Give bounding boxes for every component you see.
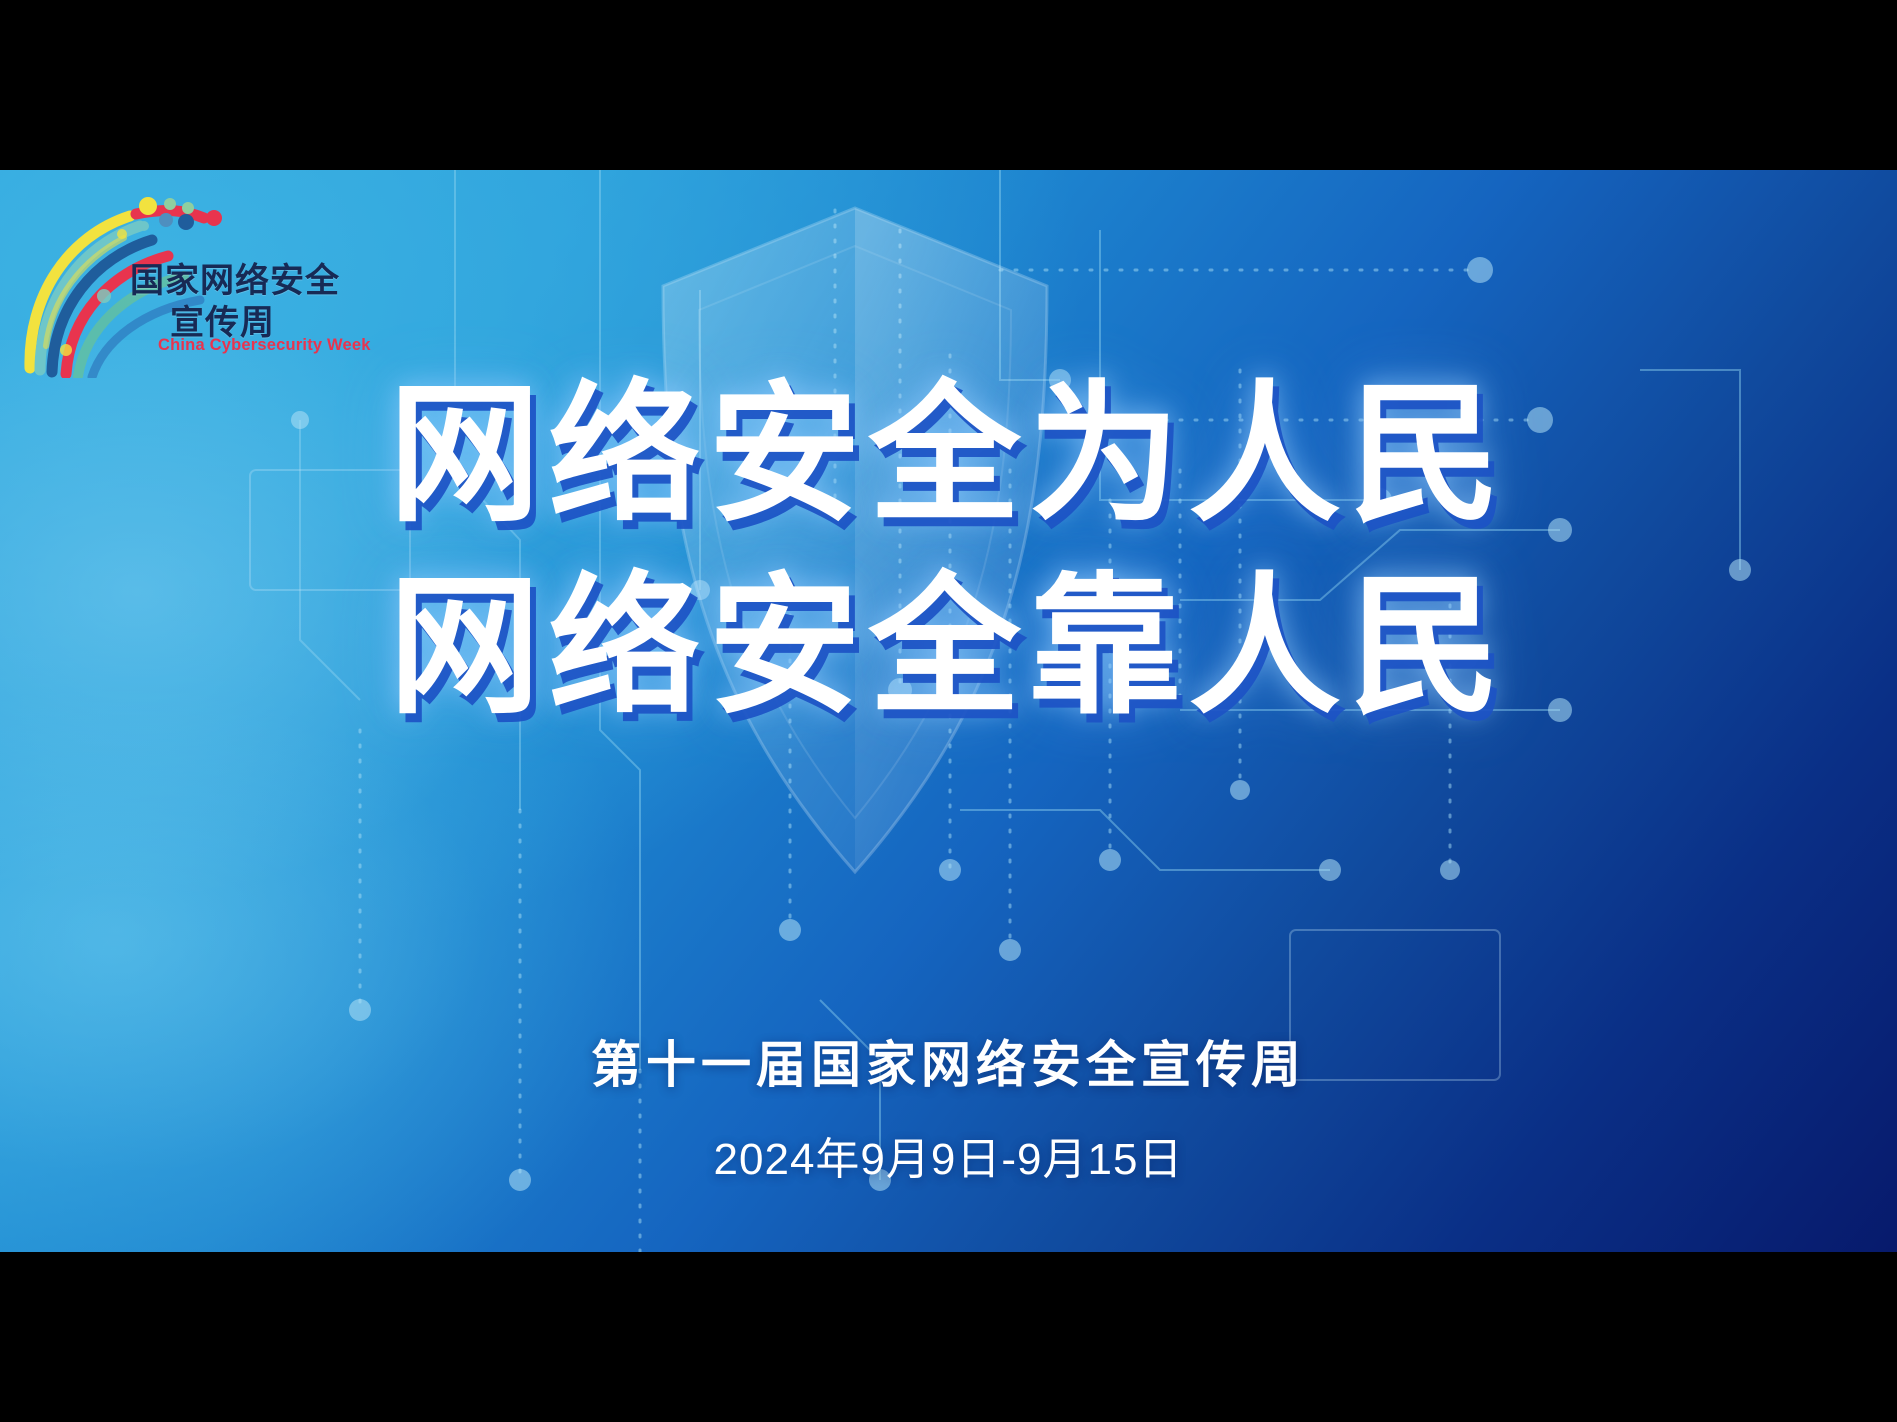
event-date-range: 2024年9月9日-9月15日 — [0, 1123, 1897, 1187]
headline-block: 网络安全为人民 网络安全靠人民 — [0, 360, 1897, 743]
letterbox-bottom — [0, 1252, 1897, 1422]
letterbox-top — [0, 0, 1897, 170]
logo-english-title: China Cybersecurity Week — [158, 336, 371, 355]
headline-line-1: 网络安全为人民 — [0, 360, 1897, 552]
event-subtitle: 第十一届国家网络安全宣传周 — [0, 1025, 1897, 1097]
footer-block: 第十一届国家网络安全宣传周 2024年9月9日-9月15日 — [0, 1025, 1897, 1187]
headline-line-2: 网络安全靠人民 — [0, 552, 1897, 744]
poster-canvas: 国家网络安全 宣传周 China Cybersecurity Week 网络安全… — [0, 170, 1897, 1252]
poster-stage: 国家网络安全 宣传周 China Cybersecurity Week 网络安全… — [0, 0, 1897, 1422]
logo-block: 国家网络安全 宣传周 China Cybersecurity Week — [18, 178, 398, 378]
